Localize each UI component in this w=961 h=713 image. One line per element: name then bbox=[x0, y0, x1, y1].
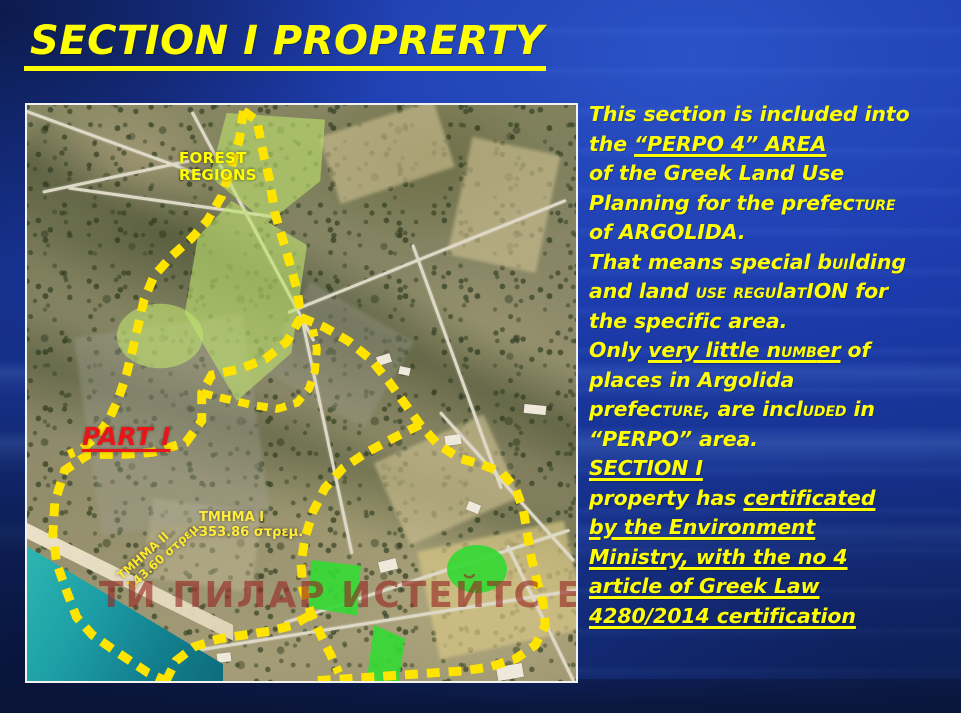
body-line-prefix: Only bbox=[589, 338, 648, 362]
body-line-underlined: by the Environment bbox=[589, 515, 815, 539]
map-label-tmima-one: ΤΜΗΜΑ Ι 353.86 στρεμ. bbox=[199, 511, 303, 541]
body-line: of the Greek Land Use bbox=[589, 159, 955, 189]
body-line-prefix: and land bbox=[589, 279, 696, 303]
body-line: and land USE REGUlaTION for bbox=[589, 277, 955, 307]
body-line-suffix-2: ION for bbox=[806, 279, 888, 303]
body-line: This section is included into bbox=[589, 100, 955, 130]
body-line-text: the specific area. bbox=[589, 309, 787, 333]
body-line-text: of the Greek Land Use bbox=[589, 161, 844, 185]
body-line-suffix: of bbox=[840, 338, 870, 362]
body-line-underlined: 4280/2014 certification bbox=[589, 604, 856, 628]
body-line: That means special bUIlding bbox=[589, 248, 955, 278]
body-line-underlined-head: very little n bbox=[648, 338, 781, 362]
body-line-prefix: Planning for the prefec bbox=[589, 191, 855, 215]
body-line: by the Environment bbox=[589, 513, 955, 543]
body-line-text: “PERPO” area. bbox=[589, 427, 758, 451]
body-line: places in Argolida bbox=[589, 366, 955, 396]
body-line: the specific area. bbox=[589, 307, 955, 337]
body-line-suffix: , are incl bbox=[703, 397, 803, 421]
map-label-part-one: PART I bbox=[82, 422, 171, 451]
body-line-prefix: the bbox=[589, 132, 634, 156]
body-line-underlined: certificated bbox=[743, 486, 875, 510]
body-line-underlined: very little nUMBer bbox=[648, 338, 840, 362]
body-line-smallcaps-2: UDED bbox=[803, 397, 847, 421]
body-line: Planning for the prefecTURE bbox=[589, 189, 955, 219]
body-line-suffix: lding bbox=[848, 250, 906, 274]
body-line: the “PERPO 4” AREA bbox=[589, 130, 955, 160]
body-line: 4280/2014 certification bbox=[589, 602, 955, 632]
body-line: “PERPO” area. bbox=[589, 425, 955, 455]
aerial-map-image: FOREST REGIONS ΤΜΗΜΑ Ι 353.86 στρεμ. ΤΜΗ… bbox=[25, 103, 578, 683]
body-line-smallcaps-2: T bbox=[797, 279, 806, 303]
body-line-suffix-2: in bbox=[846, 397, 874, 421]
body-line: prefecTURE, are inclUDED in bbox=[589, 395, 955, 425]
body-line-prefix: That means special b bbox=[589, 250, 832, 274]
body-line: SECTION I bbox=[589, 454, 955, 484]
body-line-smallcaps: USE REGU bbox=[696, 279, 777, 303]
body-line-prefix: prefec bbox=[589, 397, 662, 421]
body-line-underlined: Ministry, with the no 4 bbox=[589, 545, 848, 569]
background-bottom-band bbox=[0, 679, 961, 713]
body-line: article of Greek Law bbox=[589, 572, 955, 602]
body-line-underlined-smallcaps: UMB bbox=[781, 338, 817, 362]
slide-canvas: SECTION I PROPRERTY bbox=[0, 0, 961, 713]
map-label-forest-regions: FOREST REGIONS bbox=[179, 150, 257, 185]
body-line-smallcaps: TURE bbox=[855, 191, 896, 215]
body-line-smallcaps: TURE bbox=[662, 397, 703, 421]
body-line-text: places in Argolida bbox=[589, 368, 794, 392]
body-line-underlined-tail: er bbox=[817, 338, 841, 362]
body-line-smallcaps: UI bbox=[832, 250, 848, 274]
body-line: property has certificated bbox=[589, 484, 955, 514]
body-line-prefix: property has bbox=[589, 486, 743, 510]
page-title-underline bbox=[24, 66, 546, 71]
body-line: Only very little nUMBer of bbox=[589, 336, 955, 366]
body-line-suffix: la bbox=[776, 279, 797, 303]
map-watermark: ТИ ПИЛАР ИСТЕЙТС ЕООД bbox=[99, 575, 576, 616]
map-building bbox=[217, 652, 232, 662]
body-line: of ARGOLIDA. bbox=[589, 218, 955, 248]
body-line: Ministry, with the no 4 bbox=[589, 543, 955, 573]
body-line-text: This section is included into bbox=[589, 102, 910, 126]
body-line-text: of ARGOLIDA. bbox=[589, 220, 746, 244]
body-line-underlined: “PERPO 4” AREA bbox=[634, 132, 826, 156]
body-text-column: This section is included into the “PERPO… bbox=[589, 100, 955, 631]
page-title: SECTION I PROPRERTY bbox=[30, 18, 544, 64]
body-line-underlined: SECTION I bbox=[589, 456, 703, 480]
body-line-underlined: article of Greek Law bbox=[589, 574, 819, 598]
